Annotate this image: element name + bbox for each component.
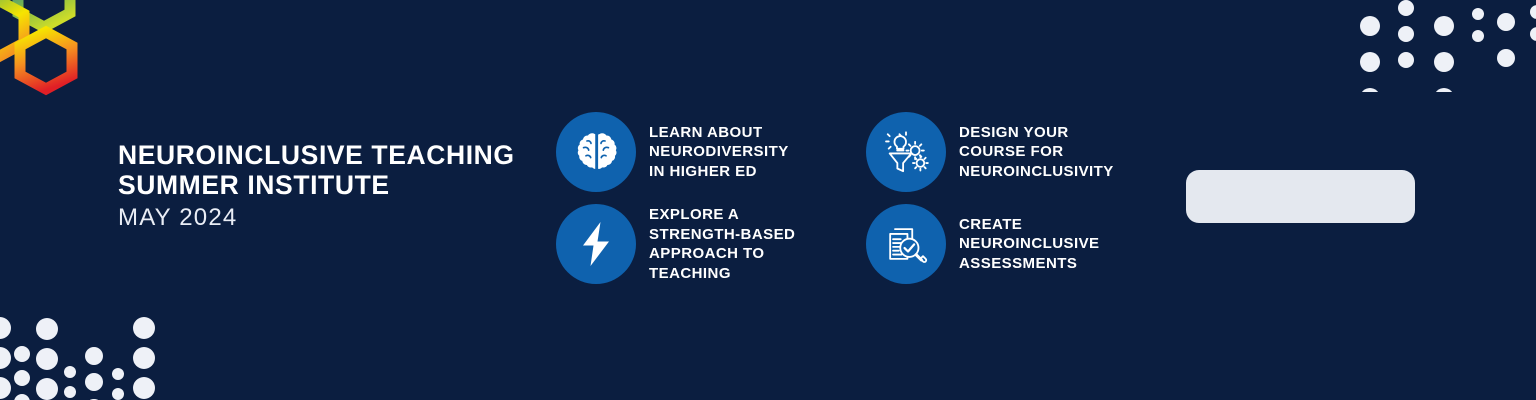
feature-label: LEARN ABOUT NEURODIVERSITY IN HIGHER ED bbox=[649, 123, 789, 182]
feature-item-strength-based-approach[interactable]: EXPLORE A STRENGTH-BASED APPROACH TO TEA… bbox=[556, 204, 795, 284]
title-line-2: SUMMER INSTITUTE bbox=[118, 170, 515, 200]
feature-item-design-your-course[interactable]: DESIGN YOUR COURSE FOR NEUROINCLUSIVITY bbox=[866, 112, 1114, 192]
feature-list: LEARN ABOUT NEURODIVERSITY IN HIGHER ED … bbox=[556, 112, 1176, 302]
brain-icon bbox=[556, 112, 636, 192]
feature-label: DESIGN YOUR COURSE FOR NEUROINCLUSIVITY bbox=[959, 123, 1114, 182]
title-line-1: NEUROINCLUSIVE TEACHING bbox=[118, 140, 515, 170]
dot-grid-bottom-left bbox=[0, 306, 177, 400]
feature-item-create-assessments[interactable]: CREATE NEUROINCLUSIVE ASSESSMENTS bbox=[866, 204, 1099, 284]
feature-label: CREATE NEUROINCLUSIVE ASSESSMENTS bbox=[959, 215, 1099, 274]
lightbulb-funnel-gears-icon bbox=[866, 112, 946, 192]
cta-button[interactable] bbox=[1186, 170, 1415, 223]
document-magnifier-check-icon bbox=[866, 204, 946, 284]
page-title: NEUROINCLUSIVE TEACHING SUMMER INSTITUTE… bbox=[118, 140, 515, 235]
feature-item-learn-about-neurodiversity[interactable]: LEARN ABOUT NEURODIVERSITY IN HIGHER ED bbox=[556, 112, 789, 192]
lightning-bolt-icon bbox=[556, 204, 636, 284]
banner-root: NEUROINCLUSIVE TEACHING SUMMER INSTITUTE… bbox=[0, 0, 1536, 400]
feature-label: EXPLORE A STRENGTH-BASED APPROACH TO TEA… bbox=[649, 205, 795, 283]
hexagon-cluster-logo bbox=[0, 0, 118, 116]
title-date: MAY 2024 bbox=[118, 201, 515, 235]
dot-grid-top-right bbox=[1356, 0, 1536, 92]
